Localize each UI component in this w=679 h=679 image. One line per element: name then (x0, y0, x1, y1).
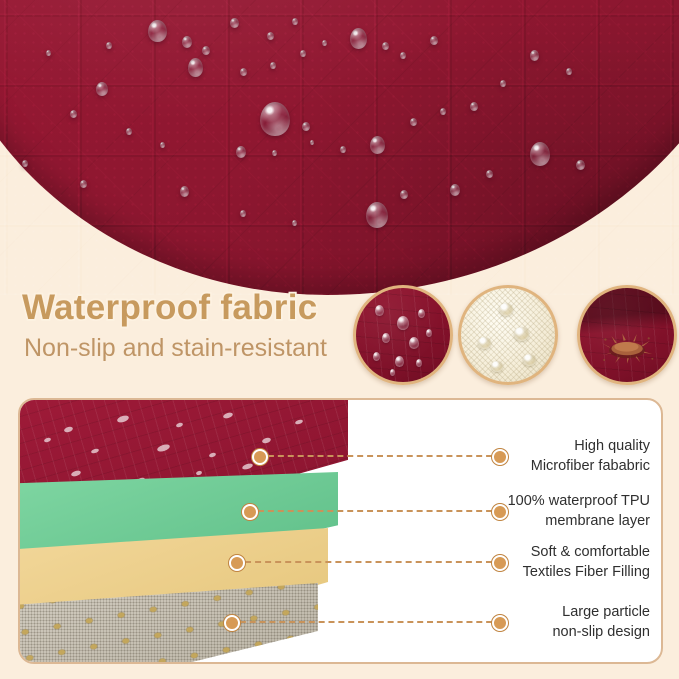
connector-dot-left (242, 504, 258, 520)
water-droplet (270, 62, 276, 69)
water-droplet (430, 36, 438, 45)
coffee-splash-graphic (597, 332, 657, 364)
water-droplet (426, 329, 432, 337)
water-droplet (148, 20, 167, 42)
layer-label-line2: membrane layer (320, 512, 650, 532)
connector-dot-left (224, 615, 240, 631)
water-droplet (450, 184, 460, 196)
layer-label-grip: Large particle non-slip design (320, 603, 650, 642)
layer-label-line1: Large particle (320, 603, 650, 623)
water-droplet (500, 80, 506, 87)
water-droplet (96, 82, 108, 96)
layer-label-line1: Soft & comfortable (320, 543, 650, 563)
water-droplet (409, 337, 419, 349)
water-droplet (373, 352, 380, 361)
water-droplet (566, 68, 572, 75)
water-droplet (530, 142, 550, 166)
water-droplet (350, 28, 367, 49)
water-droplet (106, 42, 112, 49)
water-droplet (70, 110, 77, 118)
fabric-texture (356, 288, 450, 382)
water-droplet (182, 36, 192, 48)
water-droplet (400, 52, 406, 59)
product-infographic: Waterproof fabric Non-slip and stain-res… (0, 0, 679, 679)
water-droplet (80, 180, 87, 188)
water-droplet (180, 186, 189, 197)
layer-label-line1: 100% waterproof TPU (320, 492, 650, 512)
water-droplet (260, 102, 290, 136)
water-droplet (382, 42, 389, 50)
water-beads-on-mesh-inset (458, 285, 558, 385)
mesh-texture (461, 288, 555, 382)
water-droplet (240, 68, 247, 76)
water-droplet (272, 150, 277, 156)
water-bead (499, 303, 513, 316)
water-droplet (390, 369, 395, 376)
water-droplet (230, 18, 239, 28)
water-droplet (470, 102, 478, 111)
water-droplet (302, 122, 310, 131)
layer-label-line2: Textiles Fiber Filling (320, 563, 650, 583)
water-droplet (236, 146, 246, 158)
hero-fabric-image (0, 0, 679, 300)
layer-label-fill: Soft & comfortable Textiles Fiber Fillin… (320, 543, 650, 582)
water-droplet (322, 40, 327, 46)
headline-block: Waterproof fabric Non-slip and stain-res… (22, 289, 327, 362)
water-droplet (576, 160, 585, 170)
layer-label-tpu: 100% waterproof TPU membrane layer (320, 492, 650, 531)
page-title: Waterproof fabric (22, 289, 327, 327)
layer-label-top: High quality Microfiber fababric (320, 437, 650, 476)
layer-label-line2: non-slip design (320, 623, 650, 643)
water-droplet (160, 142, 165, 148)
water-droplet (366, 202, 388, 228)
water-droplet (46, 50, 51, 56)
water-droplet (240, 210, 246, 217)
fabric-layer-construction-diagram: High quality Microfiber fababric 100% wa… (18, 398, 663, 664)
water-droplet (292, 220, 297, 226)
connector-dot-left (229, 555, 245, 571)
page-subtitle: Non-slip and stain-resistant (24, 335, 327, 363)
layer-label-line1: High quality (320, 437, 650, 457)
water-droplet (126, 128, 132, 135)
quilted-fabric-surface (0, 0, 679, 295)
water-bead (523, 354, 536, 366)
water-droplet (375, 305, 384, 316)
water-droplet (292, 18, 298, 25)
water-droplet (300, 50, 306, 57)
liquid-splash-stain-inset (577, 285, 677, 385)
layer-label-line2: Microfiber fababric (320, 457, 650, 477)
water-droplet (340, 146, 346, 153)
water-droplet (22, 160, 28, 167)
water-droplet (188, 58, 203, 77)
connector-dot-left (252, 449, 268, 465)
water-droplet (530, 50, 539, 61)
water-droplet (267, 32, 274, 40)
water-droplet (410, 118, 417, 126)
water-droplet (370, 136, 385, 154)
water-bead (478, 337, 491, 349)
water-beading-on-fabric-inset (353, 285, 453, 385)
water-droplet (310, 140, 314, 145)
water-droplet (486, 170, 493, 178)
water-droplet (400, 190, 408, 199)
water-droplet (440, 108, 446, 115)
water-droplet (418, 309, 425, 318)
water-droplet (202, 46, 210, 55)
